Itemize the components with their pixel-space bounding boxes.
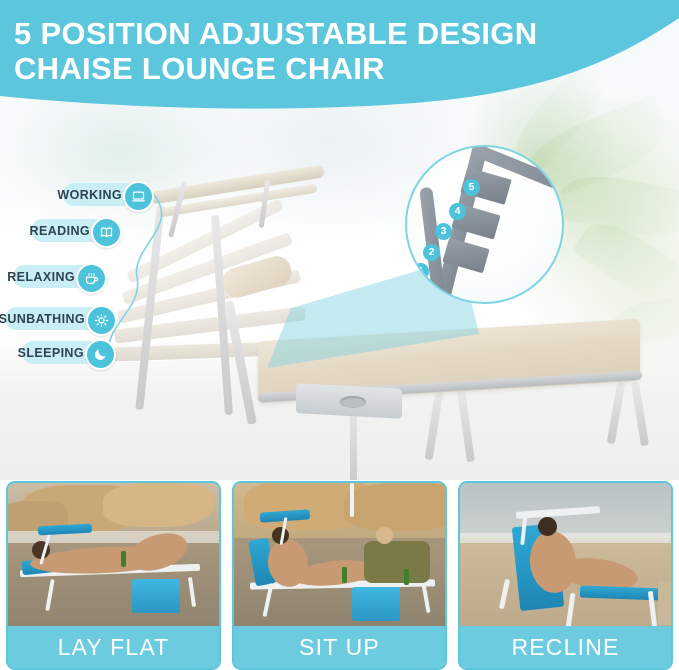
cooler-bag [132,579,180,613]
panel-photo [234,483,445,628]
position-number-3: 3 [435,223,452,240]
feature-label: SUNBATHING [0,312,85,326]
bottle-icon [121,551,126,567]
person-head [376,527,393,544]
caption-text: LAY FLAT [58,634,170,661]
feature-pill-sunbathing[interactable]: SUNBATHING [5,307,115,330]
feature-label: READING [30,224,90,238]
panel-caption: SIT UP [234,626,445,668]
moon-icon [85,339,116,370]
position-panels: LAY FLAT [0,481,679,670]
book-icon [91,217,122,248]
position-number-1: 1 [412,263,429,280]
panel-sit-up[interactable]: SIT UP [232,481,447,670]
rock-formation [344,483,445,531]
bottle-icon [342,567,347,583]
panel-caption: LAY FLAT [8,626,219,668]
cooler-bag [352,587,400,621]
title-line-2: CHAISE LOUNGE CHAIR [14,51,634,86]
feature-pill-working[interactable]: WORKING [63,183,152,206]
feature-pill-relaxing[interactable]: RELAXING [13,265,105,288]
person-head [538,517,557,536]
position-number-5: 5 [463,179,480,196]
sun-icon [86,305,117,336]
feature-label: WORKING [57,188,122,202]
feature-label: RELAXING [7,270,75,284]
panel-lay-flat[interactable]: LAY FLAT [6,481,221,670]
laptop-icon [123,181,154,212]
panel-caption: RECLINE [460,626,671,668]
feature-pill-sleeping[interactable]: SLEEPING [22,341,114,364]
caption-text: SIT UP [299,634,380,661]
panel-photo [8,483,219,628]
caption-text: RECLINE [511,634,619,661]
header-banner: 5 POSITION ADJUSTABLE DESIGN CHAISE LOUN… [0,0,679,120]
position-detail-loupe: 5 4 3 2 1 [405,145,564,304]
product-infographic: 5 4 3 2 1 WORKING READING [0,0,679,670]
bottle-icon [404,569,409,585]
person-figure [364,541,430,583]
feature-label: SLEEPING [18,346,84,360]
rock-formation [103,483,213,527]
panel-recline[interactable]: RECLINE [458,481,673,670]
position-number-4: 4 [449,203,466,220]
coffee-cup-icon [76,263,107,294]
umbrella-pole [350,483,354,517]
panel-photo [460,483,671,628]
page-title: 5 POSITION ADJUSTABLE DESIGN CHAISE LOUN… [14,16,634,86]
position-number-2: 2 [423,244,440,261]
feature-pill-reading[interactable]: READING [31,219,120,242]
wooden-post [658,581,671,625]
hero-section: 5 4 3 2 1 WORKING READING [0,0,679,480]
title-line-1: 5 POSITION ADJUSTABLE DESIGN [14,16,537,51]
